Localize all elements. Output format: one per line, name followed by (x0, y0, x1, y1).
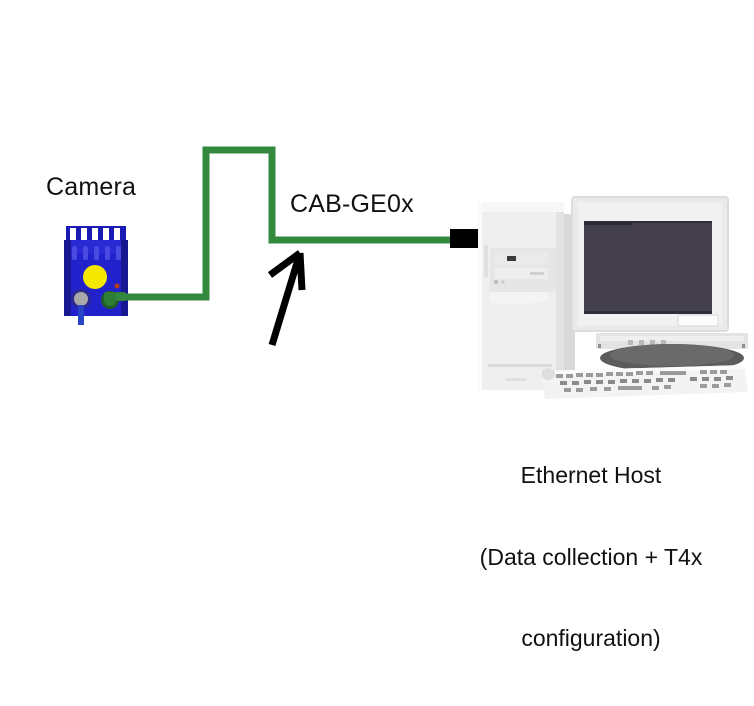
host-tower-pc (478, 202, 575, 390)
host-caption-line-3: configuration) (456, 625, 726, 652)
cable-label: CAB-GE0x (290, 190, 414, 220)
host-caption: Ethernet Host (Data collection + T4x con… (456, 408, 726, 706)
pointer-arrow-icon (270, 253, 302, 345)
host-caption-line-2: (Data collection + T4x (456, 544, 726, 571)
host-monitor (572, 197, 748, 372)
monitor-screen (584, 221, 712, 314)
host-keyboard (540, 365, 748, 399)
camera-label: Camera (46, 173, 136, 203)
host-caption-line-1: Ethernet Host (456, 462, 726, 489)
cable-host-connector (450, 229, 478, 248)
camera-indicator-icon (83, 265, 107, 289)
monitor-brand-plate (678, 315, 718, 326)
diagram-canvas: Camera CAB-GE0x Ethernet Host (Data coll… (0, 0, 754, 654)
ethernet-cable (116, 150, 455, 297)
camera-device (64, 226, 128, 325)
